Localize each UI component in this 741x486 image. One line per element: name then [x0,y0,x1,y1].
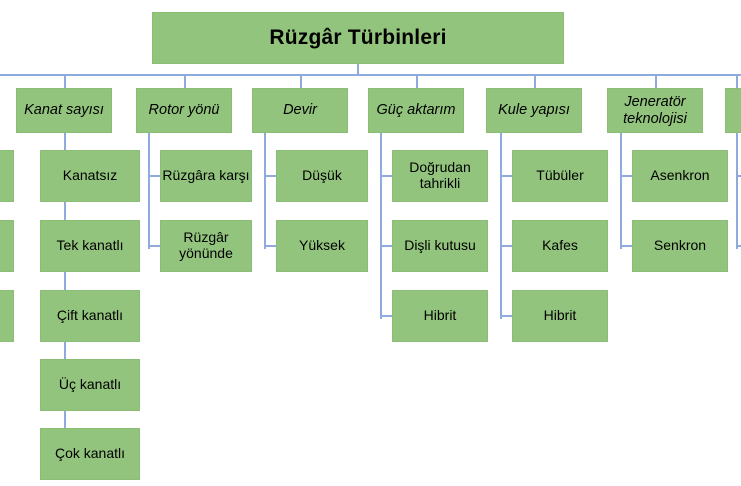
leaf-node-ruzgar-yonunde[interactable]: Rüzgâr yönünde [160,220,252,272]
connector-drop-clipped-right [736,74,738,88]
leaf-node-disli-kutusu[interactable]: Dişli kutusu [392,220,488,272]
leaf-label-hibrit-kule-yapisi: Hibrit [544,308,577,324]
connector-spine-jenerator-teknolojisi [620,133,622,249]
connector-spine-kule-yapisi [500,133,502,319]
connector-elbow-clipped-right-1 [736,175,741,177]
leaf-node-dogrudan-tahrikli[interactable]: Doğrudan tahrikli [392,150,488,202]
leaf-label-asenkron: Asenkron [650,168,709,184]
leaf-label-dogrudan-tahrikli: Doğrudan tahrikli [393,160,487,191]
category-node-rotor-yonu[interactable]: Rotor yönü [136,88,232,133]
connector-drop-devir [300,74,302,88]
leaf-label-hibrit-guc-aktarim: Hibrit [424,308,457,324]
category-label-rotor-yonu: Rotor yönü [149,102,220,118]
leaf-node-cift-kanatli[interactable]: Çift kanatlı [40,290,140,342]
root-node-label: Rüzgâr Türbinleri [269,26,446,50]
category-node-kule-yapisi[interactable]: Kule yapısı [486,88,582,133]
leaf-label-dusuk: Düşük [302,168,342,184]
leaf-node-hibrit-guc-aktarim[interactable]: Hibrit [392,290,488,342]
diagram-canvas: Rüzgâr Türbinleri Kanat sayısı Rotor yön… [0,0,741,486]
connector-spine-rotor-yonu [148,133,150,249]
leaf-label-ruzgara-karsi: Rüzgâra karşı [162,168,249,184]
connector-spine-guc-aktarim [380,133,382,319]
category-node-clipped-right[interactable] [725,88,741,133]
category-node-kanat-sayisi[interactable]: Kanat sayısı [16,88,112,133]
leaf-label-kanatsiz: Kanatsız [63,168,117,184]
leaf-label-disli-kutusu: Dişli kutusu [404,238,476,254]
leaf-node-asenkron[interactable]: Asenkron [632,150,728,202]
leaf-node-tubuler[interactable]: Tübüler [512,150,608,202]
leaf-label-cift-kanatli: Çift kanatlı [57,308,123,324]
leaf-node-kafes[interactable]: Kafes [512,220,608,272]
category-label-jenerator-teknolojisi: Jeneratör teknolojisi [608,94,702,126]
leaf-node-hibrit-kule-yapisi[interactable]: Hibrit [512,290,608,342]
leaf-label-kafes: Kafes [542,238,578,254]
leaf-node-clipped-left-3[interactable] [0,290,14,342]
connector-drop-guc-aktarim [416,74,418,88]
leaf-label-tubuler: Tübüler [536,168,583,184]
category-node-guc-aktarim[interactable]: Güç aktarım [368,88,464,133]
connector-bus-horizontal [0,74,741,76]
leaf-label-cok-kanatli: Çok kanatlı [55,446,125,462]
leaf-label-uc-kanatli: Üç kanatlı [59,377,121,393]
connector-drop-kule-yapisi [534,74,536,88]
category-node-jenerator-teknolojisi[interactable]: Jeneratör teknolojisi [607,88,703,133]
leaf-node-yuksek[interactable]: Yüksek [276,220,368,272]
leaf-node-clipped-left-2[interactable] [0,220,14,272]
category-label-guc-aktarim: Güç aktarım [377,102,456,118]
leaf-node-senkron[interactable]: Senkron [632,220,728,272]
leaf-node-clipped-left-1[interactable] [0,150,14,202]
connector-spine-clipped-right [736,133,738,249]
connector-elbow-clipped-right-2 [736,245,741,247]
leaf-node-tek-kanatli[interactable]: Tek kanatlı [40,220,140,272]
root-node-ruzgar-turbinleri[interactable]: Rüzgâr Türbinleri [152,12,564,64]
leaf-node-dusuk[interactable]: Düşük [276,150,368,202]
connector-drop-rotor-yonu [184,74,186,88]
category-label-kanat-sayisi: Kanat sayısı [24,102,104,118]
connector-spine-devir [264,133,266,249]
connector-drop-jenerator-teknolojisi [655,74,657,88]
leaf-node-cok-kanatli[interactable]: Çok kanatlı [40,428,140,480]
leaf-label-senkron: Senkron [654,238,706,254]
leaf-node-kanatsiz[interactable]: Kanatsız [40,150,140,202]
leaf-node-uc-kanatli[interactable]: Üç kanatlı [40,359,140,411]
category-label-devir: Devir [283,102,317,118]
connector-drop-kanat-sayisi [64,74,66,88]
category-node-devir[interactable]: Devir [252,88,348,133]
leaf-label-yuksek: Yüksek [299,238,345,254]
category-label-kule-yapisi: Kule yapısı [498,102,570,118]
leaf-label-ruzgar-yonunde: Rüzgâr yönünde [161,230,251,261]
leaf-node-ruzgara-karsi[interactable]: Rüzgâra karşı [160,150,252,202]
leaf-label-tek-kanatli: Tek kanatlı [57,238,124,254]
